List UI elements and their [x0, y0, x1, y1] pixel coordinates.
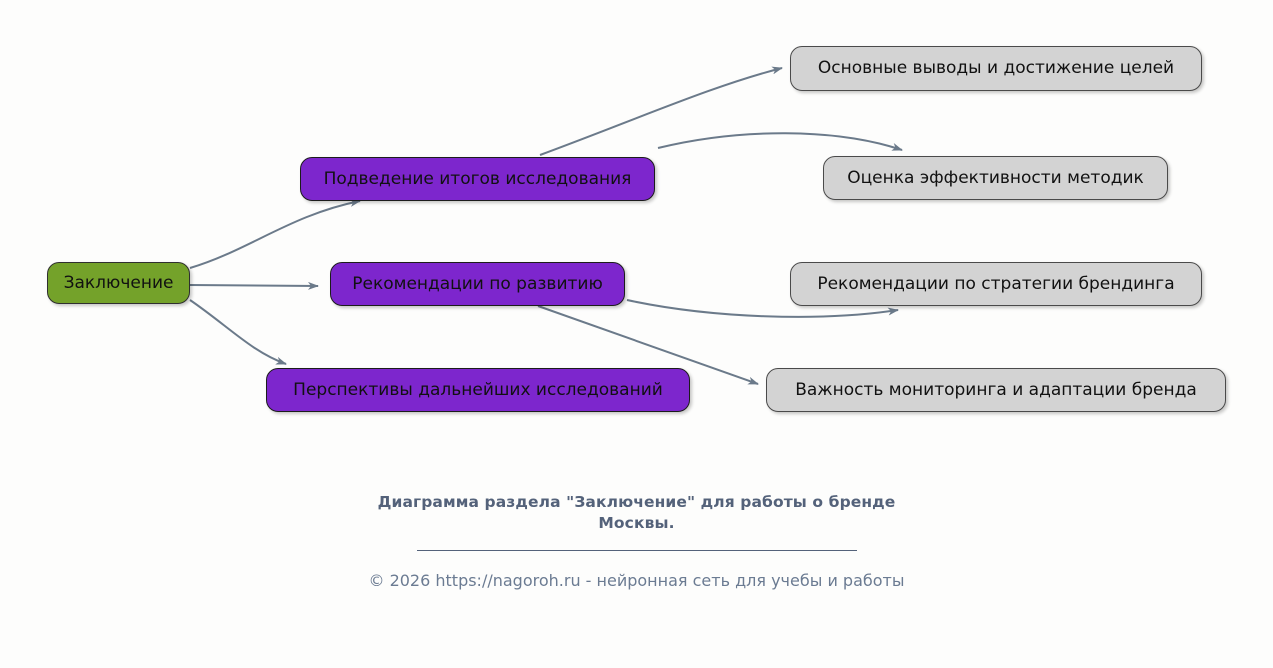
footer-copyright: © 2026 https://nagoroh.ru - нейронная се…	[0, 571, 1273, 590]
node-label: Подведение итогов исследования	[324, 171, 632, 188]
caption-title: Диаграмма раздела "Заключение" для работ…	[377, 492, 897, 534]
node-label: Важность мониторинга и адаптации бренда	[795, 382, 1197, 399]
node-branch-podvedenie-itogov[interactable]: Подведение итогов исследования	[300, 157, 655, 201]
diagram-canvas: Заключение Подведение итогов исследовани…	[0, 0, 1273, 668]
node-branch-perspektivy-issledovaniy[interactable]: Перспективы дальнейших исследований	[266, 368, 690, 412]
caption-block: Диаграмма раздела "Заключение" для работ…	[0, 492, 1273, 551]
edge-root-to-mid-1	[190, 201, 360, 268]
node-leaf-osnovnye-vyvody[interactable]: Основные выводы и достижение целей	[790, 46, 1202, 91]
edge-root-to-mid-2	[190, 285, 318, 286]
edge-layer	[0, 0, 1273, 668]
node-label: Заключение	[64, 275, 174, 292]
edge-mid-1-to-leaf-2	[658, 133, 902, 150]
node-leaf-ocenka-effektivnosti[interactable]: Оценка эффективности методик	[823, 156, 1168, 200]
node-label: Перспективы дальнейших исследований	[293, 382, 663, 399]
node-label: Оценка эффективности методик	[847, 170, 1144, 187]
node-leaf-rekomendacii-strategii[interactable]: Рекомендации по стратегии брендинга	[790, 262, 1202, 306]
node-root-zaklyuchenie[interactable]: Заключение	[47, 262, 190, 304]
caption-line-1: Диаграмма раздела "Заключение" для работ…	[378, 493, 824, 511]
caption-divider	[417, 550, 857, 551]
edge-root-to-mid-3	[190, 300, 286, 364]
edge-mid-1-to-leaf-1	[540, 68, 782, 155]
node-label: Рекомендации по стратегии брендинга	[817, 276, 1174, 293]
node-label: Рекомендации по развитию	[352, 276, 603, 293]
node-branch-rekomendacii-po-razvitiyu[interactable]: Рекомендации по развитию	[330, 262, 625, 306]
node-leaf-vazhnost-monitoringa[interactable]: Важность мониторинга и адаптации бренда	[766, 368, 1226, 412]
node-label: Основные выводы и достижение целей	[818, 60, 1174, 77]
